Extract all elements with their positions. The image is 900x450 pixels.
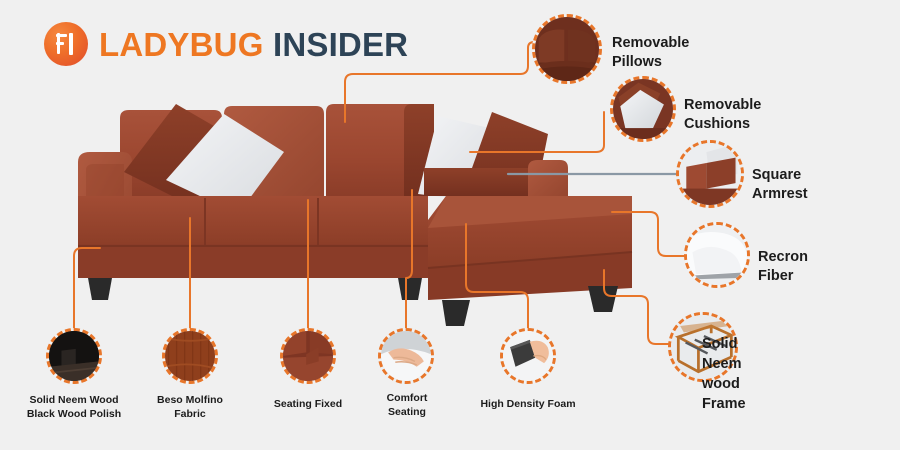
label-removable-pillows: Removable Pillows <box>612 34 689 72</box>
wood-grain-fabric-icon <box>165 331 215 381</box>
thumb-hand-pressing-cushion[interactable] <box>378 328 434 384</box>
seat-cushions-icon <box>283 331 333 381</box>
thumb-black-polished-wood[interactable] <box>46 328 102 384</box>
square-armrest-icon <box>679 143 741 205</box>
label-beso-molfino-fabric: Beso Molfino Fabric <box>130 394 250 422</box>
sofa-back-pillows-icon <box>535 17 599 81</box>
hand-pressing-cushion-icon <box>381 331 431 381</box>
infographic-canvas: LADYBUG INSIDER <box>0 0 900 450</box>
label-comfort-seating: Comfort Seating <box>362 392 452 420</box>
black-polished-wood-icon <box>49 331 99 381</box>
thumb-wood-grain-fabric[interactable] <box>162 328 218 384</box>
label-removable-cushions: Removable Cushions <box>684 96 761 134</box>
white-fiber-pillow-icon <box>687 225 747 285</box>
white-cushion-icon <box>613 79 673 139</box>
thumb-sofa-back-pillows[interactable] <box>532 14 602 84</box>
label-solid-neem-wood-black-polish: Solid Neem Wood Black Wood Polish <box>6 394 142 422</box>
label-square-armrest: Square Armrest <box>752 166 808 204</box>
connector-lines <box>0 0 900 450</box>
label-high-density-foam: High Density Foam <box>480 398 576 412</box>
thumb-white-cushion[interactable] <box>610 76 676 142</box>
thumb-square-armrest[interactable] <box>676 140 744 208</box>
label-seating-fixed: Seating Fixed <box>256 398 360 412</box>
thumb-white-fiber-pillow[interactable] <box>684 222 750 288</box>
thumb-hand-holding-foam[interactable] <box>500 328 556 384</box>
hand-holding-foam-icon <box>503 331 553 381</box>
label-solid-neem-frame: Solid Neem wood Frame <box>702 334 746 414</box>
thumb-seat-cushions[interactable] <box>280 328 336 384</box>
label-recron-fiber: Recron Fiber <box>758 248 808 286</box>
